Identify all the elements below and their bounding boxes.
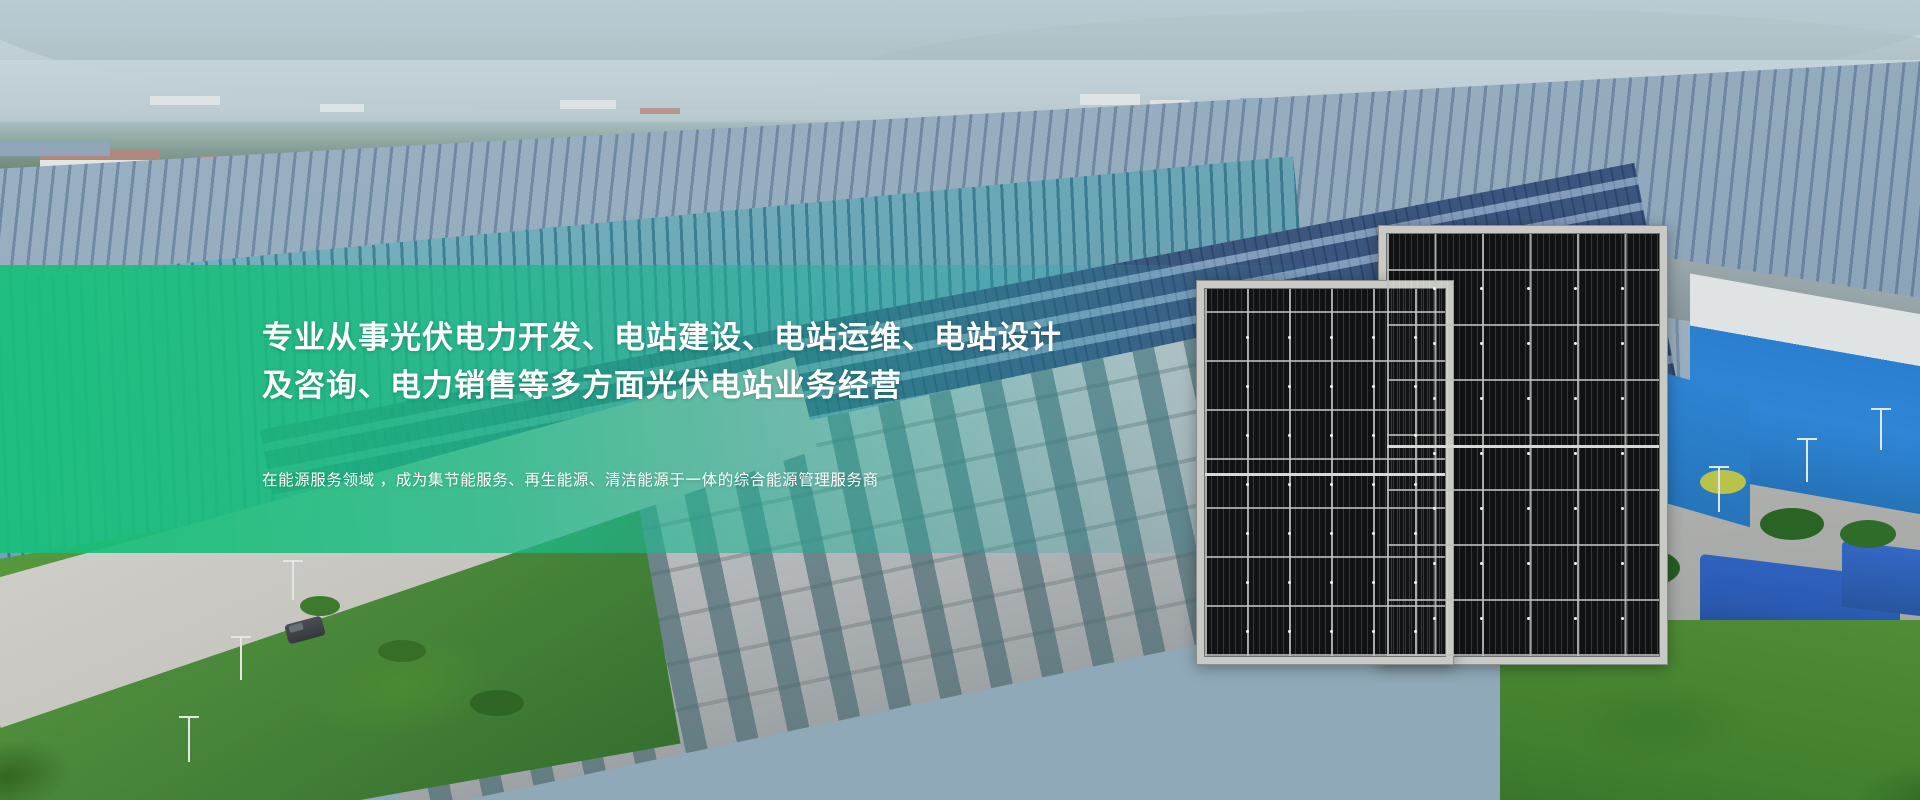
- hero-banner: 专业从事光伏电力开发、电站建设、电站运维、电站设计 及咨询、电力销售等多方面光伏…: [0, 0, 1920, 800]
- blue-tarp-shelter-2: [1842, 540, 1920, 617]
- sub-headline: 在能源服务领域 ，成为集节能服务、再生能源、清洁能源于一体的综合能源管理服务商: [262, 468, 879, 494]
- headline-line-2: 及咨询、电力销售等多方面光伏电站业务经营: [262, 364, 902, 408]
- solar-glass-front: [1204, 288, 1446, 657]
- solar-module-front: [1196, 280, 1454, 665]
- green-gradient-overlay: [0, 265, 1380, 553]
- headline-line-1: 专业从事光伏电力开发、电站建设、电站运维、电站设计: [262, 316, 1062, 360]
